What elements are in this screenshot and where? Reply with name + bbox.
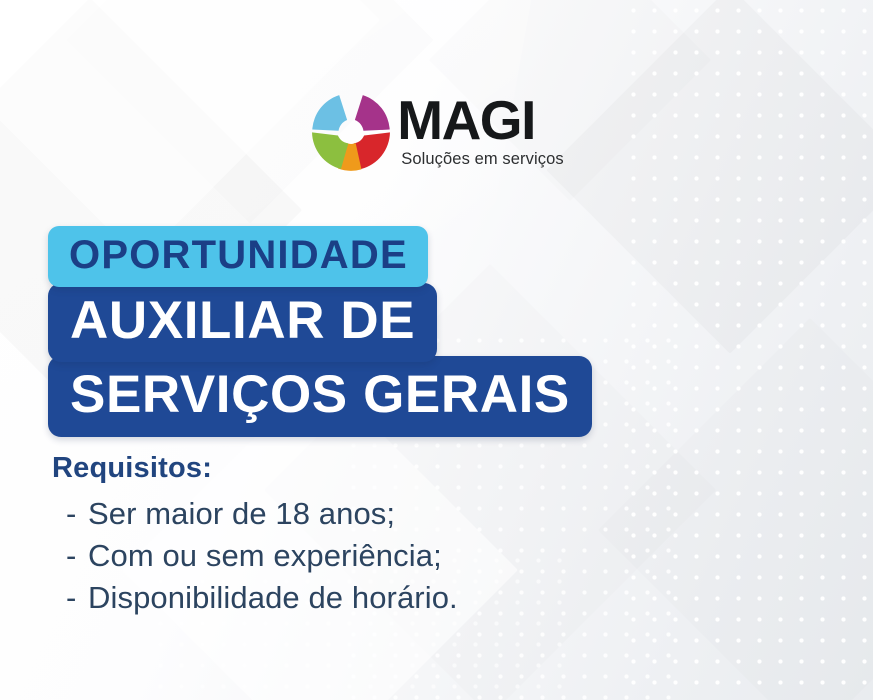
bullet-dash: - <box>66 577 88 619</box>
brand-name: MAGI <box>397 95 535 146</box>
requirement-item: -Ser maior de 18 anos; <box>66 493 752 535</box>
job-posting-poster: MAGI Soluções em serviços OPORTUNIDADE A… <box>0 0 873 700</box>
eyebrow-banner: OPORTUNIDADE <box>48 226 428 287</box>
headline-group: OPORTUNIDADE AUXILIAR DE SERVIÇOS GERAIS <box>48 226 592 437</box>
requirement-item: -Disponibilidade de horário. <box>66 577 752 619</box>
title-row-2: SERVIÇOS GERAIS <box>48 362 592 437</box>
requirement-text: Ser maior de 18 anos; <box>88 496 395 531</box>
requirements-section: Requisitos: -Ser maior de 18 anos; -Com … <box>52 452 752 619</box>
brand-wordmark-group: MAGI Soluções em serviços <box>397 95 563 167</box>
requirement-text: Disponibilidade de horário. <box>88 580 458 615</box>
bullet-dash: - <box>66 493 88 535</box>
requirement-text: Com ou sem experiência; <box>88 538 442 573</box>
requirements-heading: Requisitos: <box>52 452 752 485</box>
background-diagonal-shape <box>546 0 873 354</box>
brand-tagline: Soluções em serviços <box>401 151 563 168</box>
job-title-line-1: AUXILIAR DE <box>48 283 437 362</box>
job-title-line-2: SERVIÇOS GERAIS <box>48 356 592 437</box>
bullet-dash: - <box>66 535 88 577</box>
eyebrow-row: OPORTUNIDADE <box>48 226 592 287</box>
title-row-1: AUXILIAR DE <box>48 287 592 362</box>
five-point-star-icon <box>309 90 393 174</box>
brand-logo: MAGI Soluções em serviços <box>0 88 873 174</box>
requirement-item: -Com ou sem experiência; <box>66 535 752 577</box>
